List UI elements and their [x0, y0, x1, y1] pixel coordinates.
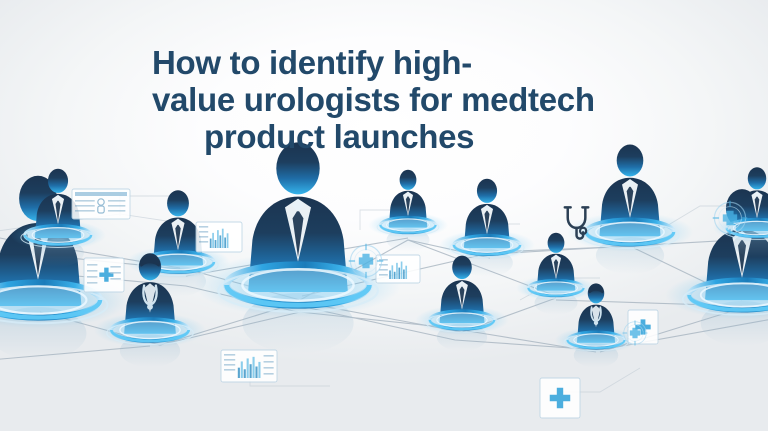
banner-image: How to identify high- value urologists f… [0, 0, 768, 431]
node-upper-center [368, 170, 448, 252]
cross-box-bottom [540, 378, 580, 418]
chart-card-center [376, 255, 420, 283]
cross-card-left [84, 258, 124, 292]
dashboard-card [221, 350, 277, 382]
person-card-right [628, 310, 658, 344]
network-illustration [0, 0, 768, 431]
chart-card-left [196, 222, 242, 252]
id-card [72, 189, 130, 219]
